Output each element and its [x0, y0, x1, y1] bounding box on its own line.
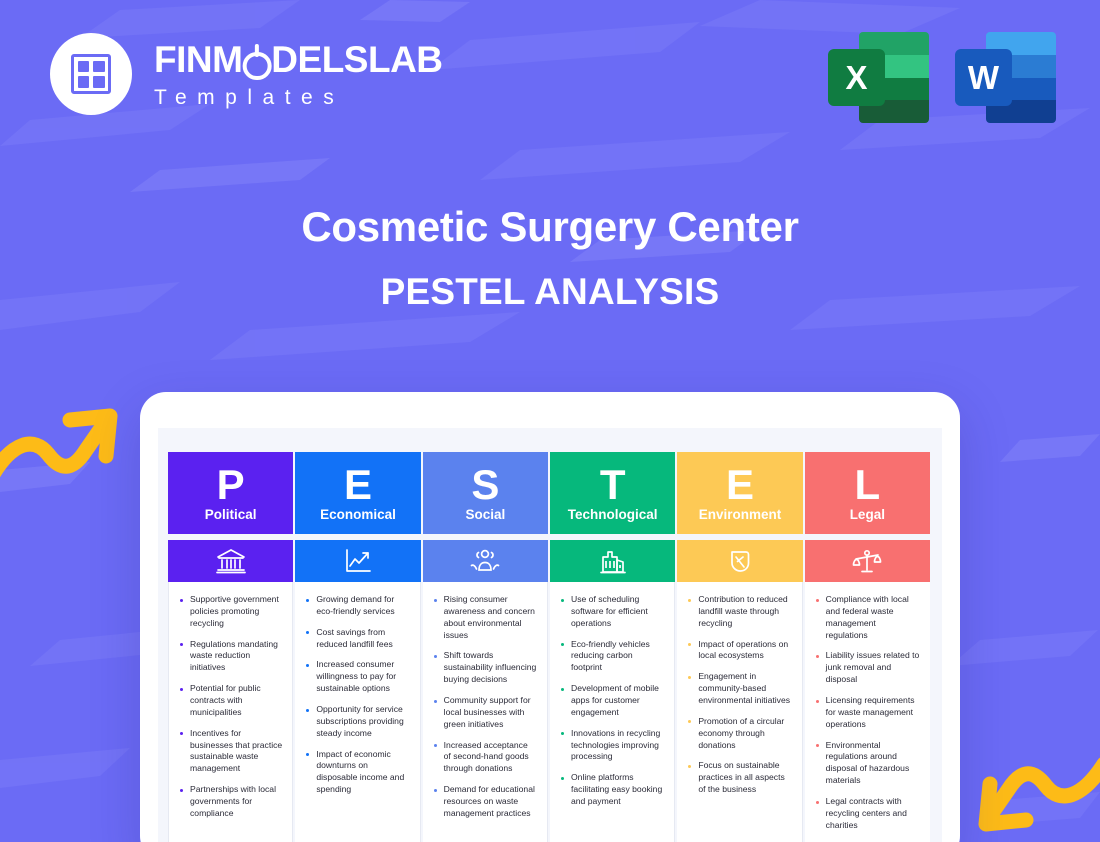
bullet-item: Increased consumer willingness to pay fo…	[303, 659, 409, 695]
column-body-political: Supportive government policies promoting…	[168, 582, 293, 842]
bullet-item: Opportunity for service subscriptions pr…	[303, 704, 409, 740]
bullet-item: Supportive government policies promoting…	[177, 594, 282, 630]
bullet-item: Promotion of a circular economy through …	[685, 716, 791, 752]
bullet-item: Focus on sustainable practices in all as…	[685, 760, 791, 796]
column-letter: L	[855, 464, 881, 506]
column-header-technological: T Technological	[550, 452, 675, 534]
people-group-icon	[423, 540, 548, 582]
bullet-item: Regulations mandating waste reduction in…	[177, 639, 282, 675]
bullet-list: Contribution to reduced landfill waste t…	[685, 594, 791, 796]
column-name: Environment	[699, 508, 782, 523]
column-name: Political	[205, 508, 257, 523]
bank-building-icon	[168, 540, 293, 582]
bullet-item: Engagement in community-based environmen…	[685, 671, 791, 707]
column-letter: T	[600, 464, 626, 506]
bullet-item: Online platforms facilitating easy booki…	[558, 772, 664, 808]
bullet-item: Impact of operations on local ecosystems	[685, 639, 791, 663]
page-subtitle: PESTEL ANALYSIS	[0, 272, 1100, 313]
bullet-item: Licensing requirements for waste managem…	[813, 695, 920, 731]
pestel-column-environment[interactable]: E Environment Contribution to reduced la…	[677, 452, 802, 842]
wavy-arrow-up-right-icon	[0, 398, 130, 493]
column-header-environment: E Environment	[677, 452, 802, 534]
bullet-item: Partnerships with local governments for …	[177, 784, 282, 820]
bullet-list: Use of scheduling software for efficient…	[558, 594, 664, 808]
title-block: Cosmetic Surgery Center PESTEL ANALYSIS	[0, 203, 1100, 313]
bullet-item: Compliance with local and federal waste …	[813, 594, 920, 641]
bullet-list: Compliance with local and federal waste …	[813, 594, 920, 832]
column-name: Economical	[320, 508, 396, 523]
pestel-column-legal[interactable]: L Legal Compliance wit	[805, 452, 930, 842]
page-title: Cosmetic Surgery Center	[0, 203, 1100, 250]
bullet-item: Environmental regulations around disposa…	[813, 740, 920, 787]
pestel-column-social[interactable]: S Social Rising consum	[423, 452, 548, 842]
leaf-icon	[677, 540, 802, 582]
column-name: Social	[465, 508, 505, 523]
column-header-political: P Political	[168, 452, 293, 534]
bullet-item: Impact of economic downturns on disposab…	[303, 749, 409, 796]
line-chart-icon	[295, 540, 420, 582]
bullet-item: Incentives for businesses that practice …	[177, 728, 282, 775]
bullet-item: Legal contracts with recycling centers a…	[813, 796, 920, 832]
bullet-item: Potential for public contracts with muni…	[177, 683, 282, 719]
column-letter: S	[471, 464, 499, 506]
bullet-item: Growing demand for eco-friendly services	[303, 594, 409, 618]
excel-icon-letter: X	[828, 49, 885, 106]
bullet-item: Cost savings from reduced landfill fees	[303, 627, 409, 651]
column-body-social: Rising consumer awareness and concern ab…	[423, 582, 548, 842]
page-header: FINMODELSLAB Templates X W	[0, 0, 1100, 150]
brand-text: FINMODELSLAB Templates	[154, 41, 443, 108]
grid-squares-icon	[50, 33, 132, 115]
column-header-legal: L Legal	[805, 452, 930, 534]
bullet-item: Liability issues related to junk removal…	[813, 650, 920, 686]
bullet-item: Demand for educational resources on wast…	[431, 784, 537, 820]
bullet-item: Rising consumer awareness and concern ab…	[431, 594, 537, 641]
brand-lockup: FINMODELSLAB Templates	[50, 33, 443, 115]
word-icon-letter: W	[955, 49, 1012, 106]
pestel-column-economical[interactable]: E Economical Growing demand for eco-frie…	[295, 452, 420, 842]
column-letter: P	[217, 464, 245, 506]
office-icons-group: X W	[828, 26, 1052, 123]
column-header-social: S Social	[423, 452, 548, 534]
column-body-technological: Use of scheduling software for efficient…	[550, 582, 675, 842]
excel-icon: X	[828, 26, 925, 123]
bullet-list: Rising consumer awareness and concern ab…	[431, 594, 537, 820]
column-body-economical: Growing demand for eco-friendly services…	[295, 582, 420, 842]
brand-tagline: Templates	[154, 87, 443, 108]
bullet-item: Increased acceptance of second-hand good…	[431, 740, 537, 776]
wavy-arrow-down-left-icon	[966, 752, 1100, 842]
column-body-legal: Compliance with local and federal waste …	[805, 582, 930, 842]
pestel-matrix: P Political Supportive government polici…	[168, 452, 930, 842]
bullet-item: Shift towards sustainability influencing…	[431, 650, 537, 686]
column-body-environment: Contribution to reduced landfill waste t…	[677, 582, 802, 842]
column-letter: E	[344, 464, 372, 506]
brand-name-part2: DELSLAB	[271, 39, 442, 80]
bullet-item: Use of scheduling software for efficient…	[558, 594, 664, 630]
pestel-column-technological[interactable]: T Technological Use of scheduling softwa…	[550, 452, 675, 842]
bullet-list: Growing demand for eco-friendly services…	[303, 594, 409, 796]
column-name: Technological	[568, 508, 658, 523]
brand-name-power-o: O	[242, 41, 271, 78]
brand-name-part1: FINM	[154, 39, 242, 80]
bullet-item: Community support for local businesses w…	[431, 695, 537, 731]
column-header-economical: E Economical	[295, 452, 420, 534]
bullet-item: Development of mobile apps for customer …	[558, 683, 664, 719]
matrix-panel: P Political Supportive government polici…	[158, 428, 942, 842]
bullet-list: Supportive government policies promoting…	[177, 594, 282, 820]
bullet-item: Eco-friendly vehicles reducing carbon fo…	[558, 639, 664, 675]
bullet-item: Contribution to reduced landfill waste t…	[685, 594, 791, 630]
brand-name: FINMODELSLAB	[154, 41, 443, 78]
pestel-column-political[interactable]: P Political Supportive government polici…	[168, 452, 293, 842]
scales-balance-icon	[805, 540, 930, 582]
bullet-item: Innovations in recycling technologies im…	[558, 728, 664, 764]
tablet-frame: P Political Supportive government polici…	[140, 392, 960, 842]
word-icon: W	[955, 26, 1052, 123]
factory-building-icon	[550, 540, 675, 582]
column-letter: E	[726, 464, 754, 506]
column-name: Legal	[850, 508, 885, 523]
